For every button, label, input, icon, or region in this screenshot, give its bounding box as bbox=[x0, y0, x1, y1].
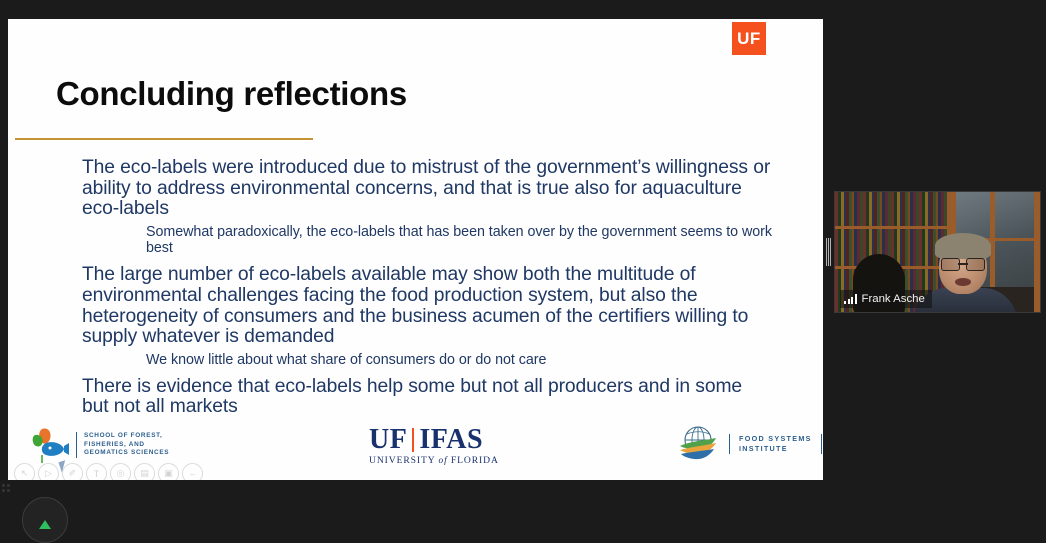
university-tagline: UNIVERSITY of FLORIDA bbox=[369, 455, 499, 466]
slide-title: Concluding reflections bbox=[56, 75, 407, 113]
annotation-toolbar[interactable]: ↖ ▷ ✐ T ◎ ▤ ▣ – bbox=[14, 463, 203, 480]
school-of-forest-fisheries-geomatics-sciences-logo: SCHOOL OF FOREST, FISHERIES, AND GEOMATI… bbox=[25, 426, 169, 464]
wordmark-divider bbox=[412, 428, 414, 452]
slide-footer: SCHOOL OF FOREST, FISHERIES, AND GEOMATI… bbox=[8, 414, 823, 480]
presentation-slide[interactable]: UF Concluding reflections The eco-labels… bbox=[8, 19, 823, 480]
participant-mouth bbox=[955, 278, 971, 286]
select-icon[interactable]: ↖ bbox=[14, 463, 35, 480]
draw-icon[interactable]: ▷ bbox=[38, 463, 59, 480]
ifas-wordmark: IFAS bbox=[419, 425, 483, 454]
screen-share-indicator[interactable] bbox=[22, 497, 68, 543]
bullet-level2: Somewhat paradoxically, the eco-labels t… bbox=[146, 225, 772, 256]
fsi-logo-text: FOOD SYSTEMS INSTITUTE bbox=[729, 434, 822, 454]
slide-body: The eco-labels were introduced due to mi… bbox=[82, 158, 772, 420]
eraser-icon[interactable]: ▤ bbox=[134, 463, 155, 480]
signal-bars-icon bbox=[844, 294, 857, 304]
school-logo-text: SCHOOL OF FOREST, FISHERIES, AND GEOMATI… bbox=[76, 432, 169, 458]
participant-hair bbox=[935, 233, 991, 259]
participant-name: Frank Asche bbox=[862, 293, 925, 305]
more-icon[interactable]: – bbox=[182, 463, 203, 480]
uf-wordmark: UF bbox=[369, 425, 407, 454]
uf-ifas-logo: UF IFAS UNIVERSITY of FLORIDA bbox=[369, 425, 499, 466]
grid-view-icon[interactable] bbox=[2, 484, 10, 492]
participant-video-tile[interactable]: Frank Asche bbox=[835, 192, 1040, 312]
bullet-level1: The eco-labels were introduced due to mi… bbox=[82, 158, 772, 220]
camera-icon[interactable]: ▣ bbox=[158, 463, 179, 480]
spotlight-icon[interactable]: ◎ bbox=[110, 463, 131, 480]
eyeglasses-icon bbox=[941, 258, 985, 269]
food-systems-institute-logo: FOOD SYSTEMS INSTITUTE bbox=[676, 424, 822, 464]
text-icon[interactable]: T bbox=[86, 463, 107, 480]
zoom-screen-share-window: UF Concluding reflections The eco-labels… bbox=[0, 0, 1046, 515]
bullet-level2: We know little about what share of consu… bbox=[146, 353, 772, 369]
title-accent-rule bbox=[15, 138, 313, 140]
globe-wave-icon bbox=[676, 424, 720, 464]
uf-brand-badge: UF bbox=[732, 22, 766, 55]
bullet-level1: The large number of eco-labels available… bbox=[82, 265, 772, 348]
participant-name-badge: Frank Asche bbox=[840, 290, 932, 308]
leaf-fish-icon bbox=[25, 426, 69, 464]
bullet-level1: There is evidence that eco-labels help s… bbox=[82, 377, 772, 418]
video-strip-divider bbox=[826, 238, 831, 266]
share-arrow-icon bbox=[39, 520, 51, 529]
